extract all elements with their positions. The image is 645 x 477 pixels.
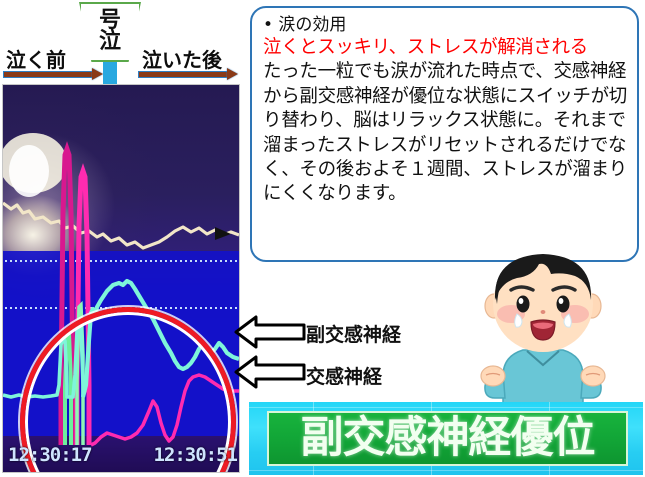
info-box-body: たった一粒でも涙が流れた時点で、交感神経から副交感神経が優位な状態にスイッチが切… (263, 60, 628, 206)
heart-rate-monitor-photo: 12:30:17 12:30:51 (2, 84, 240, 473)
status-banner-plate: 副交感神経優位 (267, 411, 628, 466)
slide-root: 泣く前 泣いた後 号 泣 (0, 0, 645, 477)
info-text-box: • 涙の効用 泣くとスッキリ、ストレスが解消される たった一粒でも涙が流れた時点… (250, 6, 639, 262)
info-box-headline: 泣くとスッキリ、ストレスが解消される (263, 36, 628, 60)
timestamp-start: 12:30:17 (8, 444, 92, 466)
callout-label-parasympathetic: 副交感神経 (306, 320, 401, 347)
status-banner: 副交感神経優位 (249, 402, 643, 475)
crying-boy-illustration (443, 248, 643, 408)
status-banner-text: 副交感神経優位 (301, 417, 595, 460)
timestamp-end: 12:30:51 (153, 444, 237, 466)
event-marker-label-line2: 泣 (99, 32, 121, 53)
timeline-arrow-before-icon (3, 68, 103, 81)
event-marker-trapezoid: 号 泣 (79, 2, 141, 62)
callout-label-sympathetic: 交感神経 (306, 362, 382, 389)
event-marker-label: 号 泣 (79, 2, 141, 62)
callout-arrow-sympathetic-icon (234, 355, 306, 389)
callout-arrow-parasympathetic-icon (234, 315, 306, 349)
timeline-arrow-after-icon (138, 68, 238, 81)
info-box-title: • 涙の効用 (263, 15, 628, 36)
